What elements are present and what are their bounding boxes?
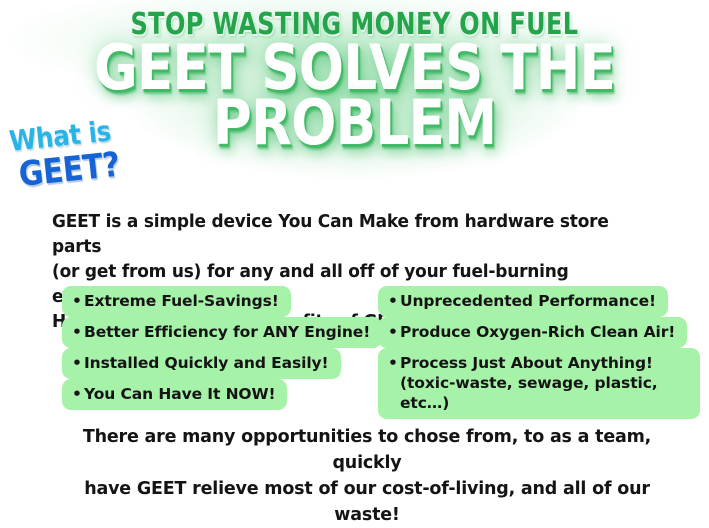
benefits-column-right: •Unprecedented Performance! •Produce Oxy… xyxy=(378,286,700,425)
list-item-label: Better Efficiency for ANY Engine! xyxy=(84,323,370,341)
benefits-column-left: •Extreme Fuel-Savings! •Better Efficienc… xyxy=(62,286,382,416)
list-item-label: Installed Quickly and Easily! xyxy=(84,354,329,372)
list-item-label: Extreme Fuel-Savings! xyxy=(84,292,279,310)
outro-paragraph: There are many opportunities to chose fr… xyxy=(52,424,682,528)
list-item: •Extreme Fuel-Savings! xyxy=(62,286,291,317)
list-item-label: Unprecedented Performance! xyxy=(400,292,656,310)
list-item: •Unprecedented Performance! xyxy=(378,286,668,317)
list-item: •Process Just About Anything! (toxic-was… xyxy=(378,348,700,419)
list-item: •Produce Oxygen-Rich Clean Air! xyxy=(378,317,687,348)
list-item-sublabel: (toxic-waste, sewage, plastic, etc…) xyxy=(388,373,688,413)
outro-line-1: There are many opportunities to chose fr… xyxy=(52,424,682,476)
list-item: •Better Efficiency for ANY Engine! xyxy=(62,317,382,348)
bullet-icon: • xyxy=(72,322,84,342)
bullet-icon: • xyxy=(388,322,400,342)
outro-line-2: have GEET relieve most of our cost-of-li… xyxy=(52,476,682,528)
list-item: •You Can Have It NOW! xyxy=(62,379,287,410)
benefits-lists: •Extreme Fuel-Savings! •Better Efficienc… xyxy=(0,286,709,406)
bullet-icon: • xyxy=(72,291,84,311)
intro-line-1: GEET is a simple device You Can Make fro… xyxy=(52,210,653,260)
list-item-label: Process Just About Anything! xyxy=(400,354,653,372)
bullet-icon: • xyxy=(388,291,400,311)
list-item-label: Produce Oxygen-Rich Clean Air! xyxy=(400,323,675,341)
bullet-icon: • xyxy=(388,353,400,373)
bullet-icon: • xyxy=(72,353,84,373)
list-item-label: You Can Have It NOW! xyxy=(84,385,275,403)
list-item: •Installed Quickly and Easily! xyxy=(62,348,341,379)
bullet-icon: • xyxy=(72,384,84,404)
